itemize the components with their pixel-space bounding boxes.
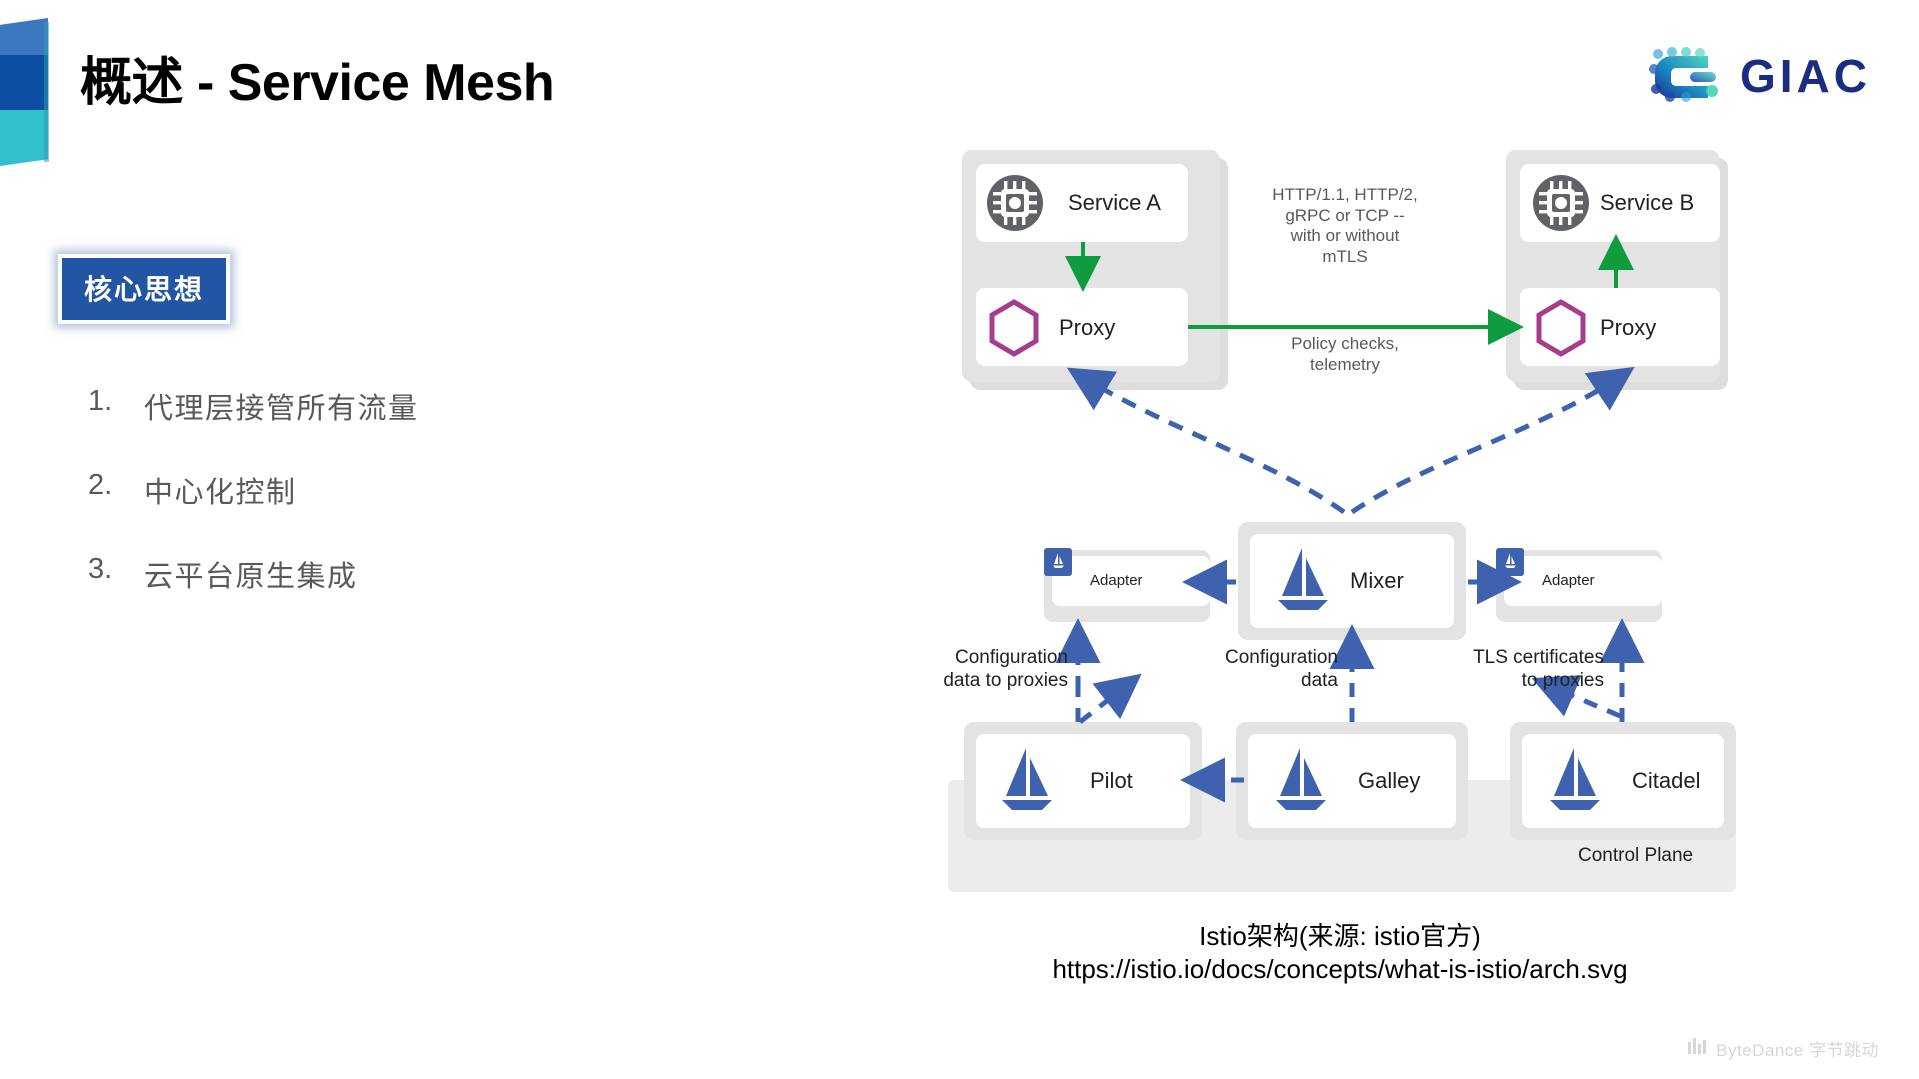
list-item: 2. 中心化控制 — [88, 469, 648, 511]
node-label-citadel: Citadel — [1632, 768, 1700, 794]
node-label-galley: Galley — [1358, 768, 1420, 794]
slide-root: 概述 - Service Mesh — [0, 0, 1919, 1079]
section-badge: 核心思想 — [58, 254, 230, 324]
page-title: 概述 - Service Mesh — [80, 40, 554, 115]
list-item: 1. 代理层接管所有流量 — [88, 385, 648, 427]
node-label-service-b: Service B — [1600, 190, 1694, 216]
list-item-number: 2. — [88, 469, 144, 502]
edge-label-config-data: Configuration data — [1088, 646, 1338, 692]
edge-label-tls-certificates: TLS certificates to proxies — [1364, 646, 1604, 692]
node-label-proxy-b: Proxy — [1600, 315, 1656, 341]
node-label-mixer: Mixer — [1350, 568, 1404, 594]
node-label-adapter-left: Adapter — [1090, 572, 1143, 589]
giac-pixel-g-icon — [1646, 45, 1724, 107]
edge-label-policy-telemetry: Policy checks, telemetry — [1240, 334, 1450, 375]
ribbon-decoration — [0, 18, 48, 166]
edge-label-config-data-to-proxies: Configuration data to proxies — [818, 646, 1068, 692]
bytedance-label: ByteDance 字节跳动 — [1716, 1036, 1879, 1061]
node-label-service-a: Service A — [1068, 190, 1161, 216]
node-label-pilot: Pilot — [1090, 768, 1133, 794]
bytedance-footer-logo: ByteDance 字节跳动 — [1688, 1036, 1879, 1061]
caption-line-2: https://istio.io/docs/concepts/what-is-i… — [940, 953, 1740, 986]
node-label-adapter-right: Adapter — [1542, 572, 1595, 589]
caption-line-1: Istio架构(来源: istio官方) — [940, 920, 1740, 953]
key-points-list: 1. 代理层接管所有流量 2. 中心化控制 3. 云平台原生集成 — [88, 385, 648, 637]
giac-wordmark: GIAC — [1740, 53, 1871, 99]
ribbon-band-dark-blue — [0, 55, 48, 111]
list-item-label: 云平台原生集成 — [144, 553, 358, 595]
ribbon-band-teal — [0, 110, 48, 166]
list-item-label: 代理层接管所有流量 — [144, 385, 419, 427]
edge-label-protocol: HTTP/1.1, HTTP/2, gRPC or TCP -- with or… — [1230, 185, 1460, 268]
list-item-number: 1. — [88, 385, 144, 418]
list-item-label: 中心化控制 — [144, 469, 297, 511]
ribbon-edge — [44, 22, 49, 162]
list-item: 3. 云平台原生集成 — [88, 553, 648, 595]
diagram-caption: Istio架构(来源: istio官方) https://istio.io/do… — [940, 920, 1740, 987]
node-label-proxy-a: Proxy — [1059, 315, 1115, 341]
giac-logo: GIAC — [1646, 42, 1871, 110]
list-item-number: 3. — [88, 553, 144, 586]
group-label-control-plane: Control Plane — [1578, 845, 1693, 867]
istio-architecture-diagram: Service A Proxy Service B Proxy Mixer Ad… — [940, 130, 1740, 920]
bar-chart-icon — [1688, 1038, 1708, 1059]
ribbon-band-light-blue — [0, 18, 48, 56]
